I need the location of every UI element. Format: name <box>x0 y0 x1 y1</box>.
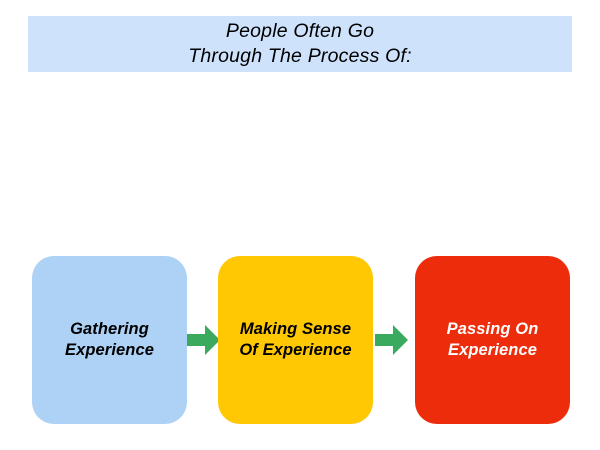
process-step-label: Making Sense Of Experience <box>239 319 351 361</box>
right-arrow-icon-2 <box>375 324 408 356</box>
slide-canvas: People Often Go Through The Process Of: … <box>0 0 600 450</box>
title-line-2: Through The Process Of: <box>188 44 412 69</box>
process-step-label: Gathering Experience <box>65 319 154 361</box>
process-step-label: Passing On Experience <box>447 319 539 361</box>
right-arrow-icon-1 <box>187 324 220 356</box>
title-banner: People Often Go Through The Process Of: <box>28 16 572 72</box>
process-step-passing-on-experience[interactable]: Passing On Experience <box>415 256 570 424</box>
process-step-making-sense-of-experience[interactable]: Making Sense Of Experience <box>218 256 373 424</box>
process-step-gathering-experience[interactable]: Gathering Experience <box>32 256 187 424</box>
process-diagram: Gathering Experience Making Sense Of Exp… <box>0 256 600 424</box>
title-line-1: People Often Go <box>226 19 374 44</box>
